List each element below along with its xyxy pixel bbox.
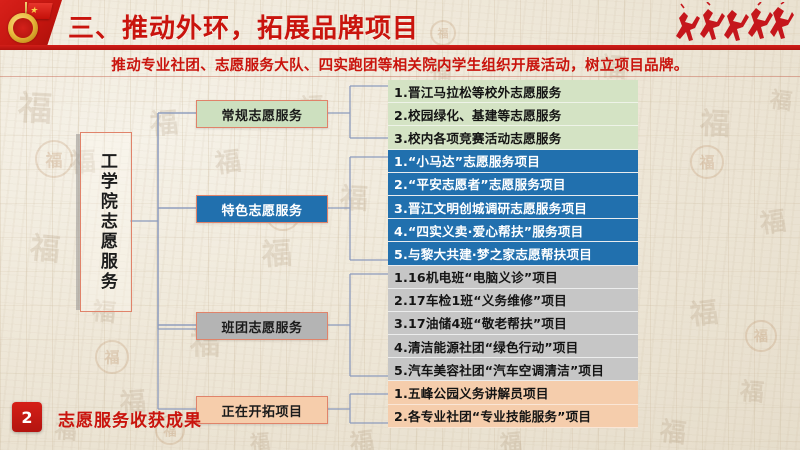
project-row[interactable]: 2.17车检1班“义务维修”项目 <box>388 289 638 312</box>
project-row[interactable]: 4.清洁能源社团“绿色行动”项目 <box>388 335 638 358</box>
page-title: 三、推动外环，拓展品牌项目 <box>68 8 419 45</box>
subtitle-rule <box>0 76 800 77</box>
project-row[interactable]: 3.校内各项竞赛活动志愿服务 <box>388 126 638 149</box>
project-row[interactable]: 2.各专业社团“专业技能服务”项目 <box>388 405 638 428</box>
branch-label-featured: 特色志愿服务 <box>221 200 302 219</box>
footer-section-badge: 2 <box>12 402 42 432</box>
project-row[interactable]: 5.汽车美容社团“汽车空调清洁”项目 <box>388 358 638 381</box>
slide-header: 三、推动外环，拓展品牌项目 <box>0 0 800 50</box>
project-row[interactable]: 1.“小马达”志愿服务项目 <box>388 150 638 173</box>
branch-box-developing[interactable]: 正在开拓项目 <box>196 396 328 424</box>
footer-section-label: 志愿服务收获成果 <box>58 406 202 431</box>
page-subtitle: 推动专业社团、志愿服务大队、四实跑团等相关院内学生组织开展活动，树立项目品牌。 <box>0 52 800 76</box>
root-node-volunteer-service[interactable]: 工学院志愿服务 <box>80 132 132 312</box>
project-row[interactable]: 2.“平安志愿者”志愿服务项目 <box>388 173 638 196</box>
root-node-label: 工学院志愿服务 <box>97 152 115 292</box>
slide-canvas: 福福福福福福福福福福福福福福福福福福福福福福福 三、推动外环，拓展品牌项目 推动… <box>0 0 800 450</box>
project-row[interactable]: 3.17油储4班“敬老帮扶”项目 <box>388 312 638 335</box>
project-row[interactable]: 5.与黎大共建·梦之家志愿帮扶项目 <box>388 242 638 265</box>
branch-box-class[interactable]: 班团志愿服务 <box>196 312 328 340</box>
branch-box-regular[interactable]: 常规志愿服务 <box>196 100 328 128</box>
communist-youth-league-emblem-icon <box>0 0 62 46</box>
project-row[interactable]: 3.晋江文明创城调研志愿服务项目 <box>388 196 638 219</box>
header-red-rule <box>0 45 800 50</box>
jumping-people-silhouettes-icon <box>666 2 794 46</box>
project-row[interactable]: 1.五峰公园义务讲解员项目 <box>388 381 638 404</box>
project-row[interactable]: 1.晋江马拉松等校外志愿服务 <box>388 80 638 103</box>
project-row[interactable]: 2.校园绿化、基建等志愿服务 <box>388 103 638 126</box>
project-row[interactable]: 1.16机电班“电脑义诊”项目 <box>388 266 638 289</box>
project-row[interactable]: 4.“四实义卖·爱心帮扶”服务项目 <box>388 219 638 242</box>
branch-box-featured[interactable]: 特色志愿服务 <box>196 195 328 223</box>
branch-label-developing: 正在开拓项目 <box>221 401 302 420</box>
project-list: 1.晋江马拉松等校外志愿服务2.校园绿化、基建等志愿服务3.校内各项竞赛活动志愿… <box>388 80 638 428</box>
branch-label-regular: 常规志愿服务 <box>221 105 302 124</box>
branch-label-class: 班团志愿服务 <box>221 317 302 336</box>
